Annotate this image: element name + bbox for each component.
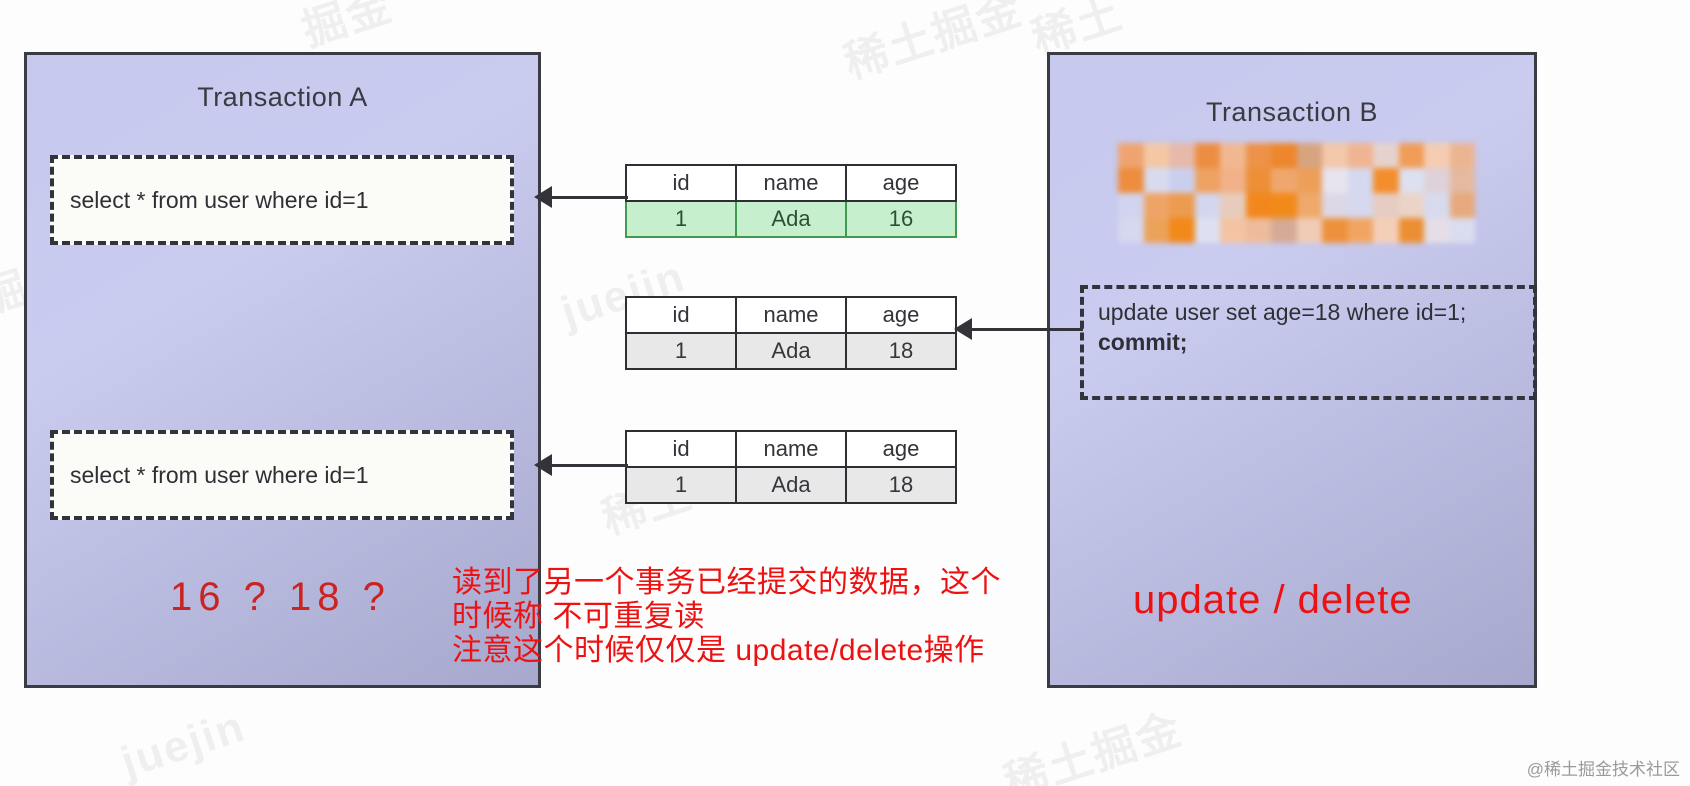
sql-update-text: update user set age=18 where id=1; — [1098, 299, 1466, 325]
header-cell: name — [736, 431, 846, 467]
arrow-line-b-to-table2 — [958, 328, 1083, 331]
table-header-row: id name age — [626, 431, 956, 467]
result-table-3: id name age 1 Ada 18 — [625, 430, 957, 504]
header-cell: age — [846, 431, 956, 467]
data-cell: Ada — [736, 467, 846, 503]
data-cell: Ada — [736, 201, 846, 237]
header-cell: name — [736, 165, 846, 201]
header-cell: age — [846, 297, 956, 333]
sql-text: select * from user where id=1 — [70, 460, 369, 490]
table-header-row: id name age — [626, 165, 956, 201]
arrow-head-table3-to-a — [534, 454, 552, 476]
table-row: 1 Ada 18 — [626, 333, 956, 369]
censored-mosaic-region — [1118, 143, 1475, 243]
data-cell: 18 — [846, 467, 956, 503]
table-header-row: id name age — [626, 297, 956, 333]
header-cell: id — [626, 431, 736, 467]
transaction-b-title: Transaction B — [1050, 97, 1534, 128]
annotation-line-2: 时候称 不可重复读 — [452, 600, 705, 633]
data-cell: 18 — [846, 333, 956, 369]
annotation-line-3: 注意这个时候仅仅是 update/delete操作 — [452, 634, 985, 667]
diagram-canvas: 掘金 稀土掘金 稀土 juejin 掘金 稀土 juejin 稀土掘金 Tran… — [0, 0, 1690, 786]
result-table-1: id name age 1 Ada 16 — [625, 164, 957, 238]
corner-watermark: @稀土掘金技术社区 — [1527, 755, 1680, 780]
header-cell: id — [626, 165, 736, 201]
annotation-text: 读到了另一个事务已经提交的数据，这个时候称 不可重复读注意这个时候仅仅是 upd… — [452, 566, 1001, 668]
header-cell: age — [846, 165, 956, 201]
data-cell: Ada — [736, 333, 846, 369]
transaction-b-update-box: update user set age=18 where id=1;commit… — [1080, 285, 1537, 400]
data-cell: 16 — [846, 201, 956, 237]
question-values: 16 ? 18 ? — [170, 575, 391, 620]
transaction-a-select-2: select * from user where id=1 — [50, 430, 514, 520]
sql-block: update user set age=18 where id=1;commit… — [1098, 297, 1466, 358]
sql-text: select * from user where id=1 — [70, 185, 369, 215]
sql-commit-text: commit; — [1098, 329, 1187, 355]
background-watermark: 稀土掘金 — [835, 0, 1030, 91]
background-watermark: juejin — [115, 702, 251, 786]
result-table-2: id name age 1 Ada 18 — [625, 296, 957, 370]
transaction-a-select-1: select * from user where id=1 — [50, 155, 514, 245]
annotation-line-1: 读到了另一个事务已经提交的数据，这个 — [452, 566, 1001, 599]
data-cell: 1 — [626, 201, 736, 237]
background-watermark: 稀土掘金 — [995, 693, 1190, 786]
background-watermark: 掘金 — [292, 0, 399, 59]
update-delete-label: update / delete — [1133, 578, 1413, 623]
data-cell: 1 — [626, 333, 736, 369]
data-cell: 1 — [626, 467, 736, 503]
table-row: 1 Ada 18 — [626, 467, 956, 503]
header-cell: id — [626, 297, 736, 333]
arrow-head-b-to-table2 — [954, 318, 972, 340]
table-row: 1 Ada 16 — [626, 201, 956, 237]
arrow-head-table1-to-a — [534, 186, 552, 208]
transaction-a-title: Transaction A — [27, 82, 538, 113]
header-cell: name — [736, 297, 846, 333]
